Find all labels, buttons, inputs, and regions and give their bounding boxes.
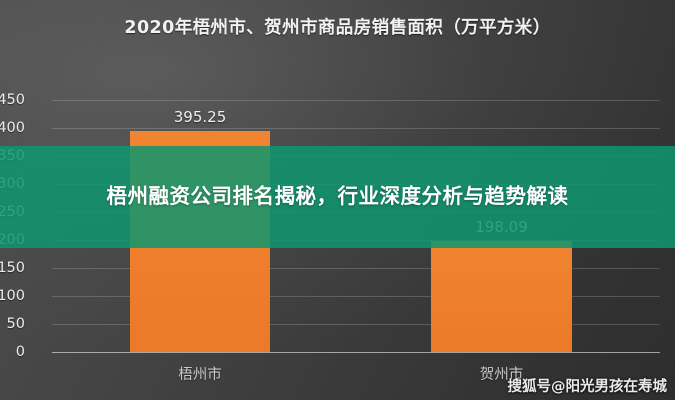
y-axis-tick-150: 150 — [0, 261, 25, 276]
gridline-400 — [52, 128, 660, 129]
y-axis-tick-450: 450 — [0, 93, 25, 108]
headline-text: 梧州融资公司排名揭秘，行业深度分析与趋势解读 — [38, 182, 638, 211]
watermark-text: 搜狐号@阳光男孩在寿城 — [508, 380, 668, 395]
y-axis-tick-100: 100 — [0, 289, 25, 304]
chart-title: 2020年梧州市、贺州市商品房销售面积（万平方米） — [0, 14, 675, 39]
gridline-axis-zero — [52, 352, 660, 353]
bar-hezhou[interactable] — [431, 241, 572, 352]
x-axis-tick-wuzhou: 梧州市 — [130, 368, 270, 383]
bar-value-wuzhou: 395.25 — [130, 110, 270, 125]
headline-overlay-band: 梧州融资公司排名揭秘，行业深度分析与趋势解读 — [0, 146, 675, 248]
chart-canvas: 2020年梧州市、贺州市商品房销售面积（万平方米） 450 400 350 30… — [0, 0, 675, 400]
y-axis-tick-400: 400 — [0, 121, 25, 136]
y-axis-tick-0: 0 — [0, 345, 25, 360]
gridline-450 — [52, 100, 660, 101]
y-axis-tick-50: 50 — [0, 317, 25, 332]
